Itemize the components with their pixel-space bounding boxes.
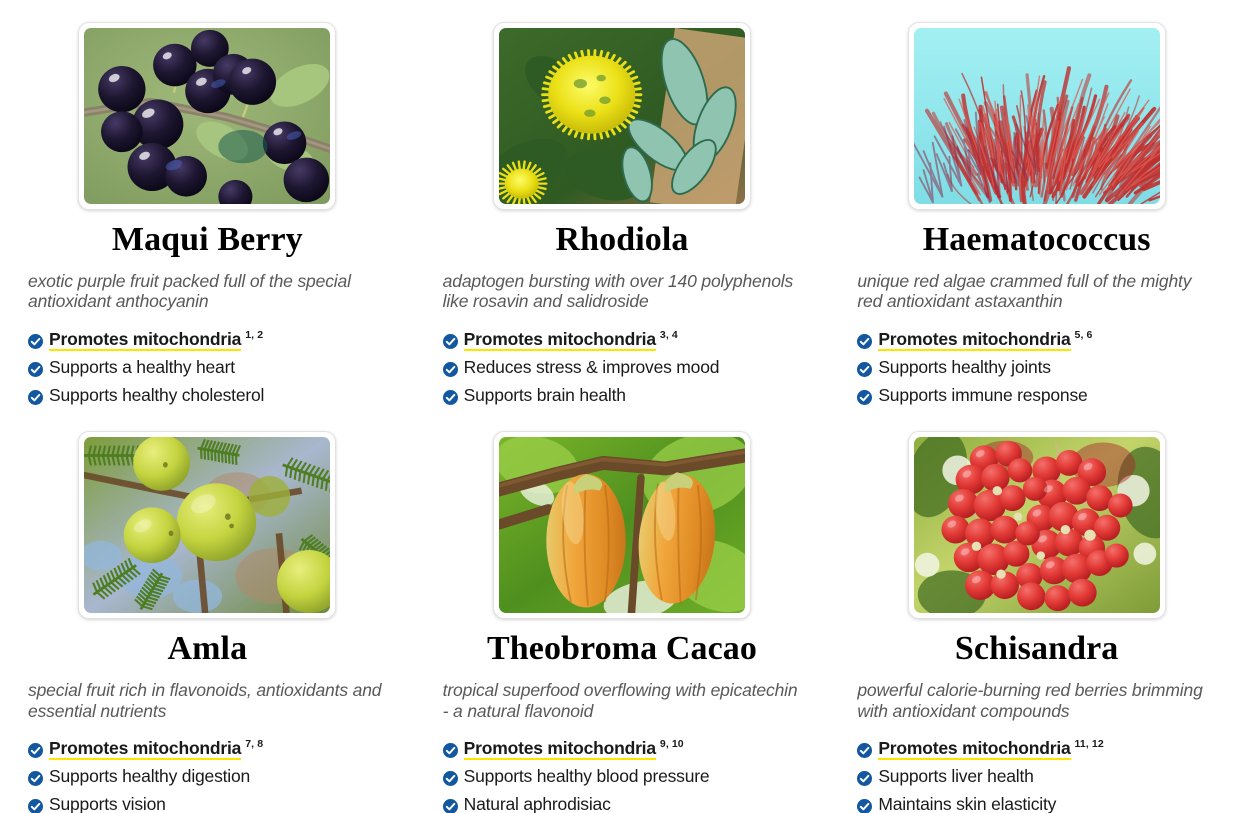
benefit-text-wrap: Promotes mitochondria3, 4 — [464, 328, 678, 351]
benefit-label: Supports brain health — [464, 385, 626, 405]
check-circle-icon — [857, 388, 872, 403]
haematococcus-photo — [914, 28, 1160, 204]
benefit-text-wrap: Supports liver health — [878, 765, 1033, 788]
rhodiola-description: adaptogen bursting with over 140 polyphe… — [443, 271, 802, 312]
citation-reference[interactable]: 1, 2 — [245, 329, 263, 341]
benefit-item: Supports a healthy heart — [28, 356, 387, 379]
benefit-item: Supports healthy cholesterol — [28, 384, 387, 407]
check-circle-icon — [857, 769, 872, 784]
benefit-label[interactable]: Promotes mitochondria — [464, 329, 656, 351]
benefit-text-wrap: Promotes mitochondria7, 8 — [49, 737, 263, 760]
check-circle-icon — [28, 769, 43, 784]
benefit-label[interactable]: Promotes mitochondria — [464, 738, 656, 760]
benefit-text-wrap: Supports a healthy heart — [49, 356, 235, 379]
benefit-item[interactable]: Promotes mitochondria9, 10 — [443, 737, 802, 760]
rhodiola-photo-frame — [493, 22, 751, 210]
citation-reference[interactable]: 9, 10 — [660, 738, 684, 750]
schisandra-title: Schisandra — [955, 631, 1119, 668]
haematococcus-title: Haematococcus — [923, 222, 1151, 259]
benefit-label: Supports vision — [49, 794, 166, 813]
benefit-item[interactable]: Promotes mitochondria7, 8 — [28, 737, 387, 760]
citation-reference[interactable]: 5, 6 — [1075, 329, 1093, 341]
benefit-label: Supports immune response — [878, 385, 1087, 405]
check-circle-icon — [857, 332, 872, 347]
maqui-berry-description: exotic purple fruit packed full of the s… — [28, 271, 387, 312]
benefit-label[interactable]: Promotes mitochondria — [878, 738, 1070, 760]
theobroma-cacao-description: tropical superfood overflowing with epic… — [443, 680, 802, 721]
benefit-item: Supports healthy digestion — [28, 765, 387, 788]
schisandra-benefit-list: Promotes mitochondria11, 12 Supports liv… — [857, 737, 1216, 813]
haematococcus-photo-frame — [908, 22, 1166, 210]
haematococcus-benefit-list: Promotes mitochondria5, 6 Supports healt… — [857, 328, 1216, 412]
check-circle-icon — [857, 360, 872, 375]
ingredient-card-haematococcus: Haematococcus unique red algae crammed f… — [829, 22, 1244, 412]
ingredient-card-amla: Amla special fruit rich in flavonoids, a… — [0, 431, 415, 813]
citation-reference[interactable]: 3, 4 — [660, 329, 678, 341]
benefit-text-wrap: Promotes mitochondria11, 12 — [878, 737, 1103, 760]
benefit-item: Supports healthy blood pressure — [443, 765, 802, 788]
benefit-text-wrap: Maintains skin elasticity — [878, 793, 1056, 813]
benefit-text-wrap: Natural aphrodisiac — [464, 793, 611, 813]
citation-reference[interactable]: 7, 8 — [245, 738, 263, 750]
benefit-item[interactable]: Promotes mitochondria5, 6 — [857, 328, 1216, 351]
check-circle-icon — [443, 332, 458, 347]
benefit-item[interactable]: Promotes mitochondria11, 12 — [857, 737, 1216, 760]
theobroma-cacao-benefit-list: Promotes mitochondria9, 10 Supports heal… — [443, 737, 802, 813]
benefit-item[interactable]: Promotes mitochondria3, 4 — [443, 328, 802, 351]
benefit-label: Supports healthy blood pressure — [464, 766, 710, 786]
benefit-label: Supports healthy digestion — [49, 766, 250, 786]
check-circle-icon — [857, 741, 872, 756]
rhodiola-photo — [499, 28, 745, 204]
benefit-item: Supports liver health — [857, 765, 1216, 788]
benefit-label: Natural aphrodisiac — [464, 794, 611, 813]
amla-photo — [84, 437, 330, 613]
benefit-item: Natural aphrodisiac — [443, 793, 802, 813]
benefit-text-wrap: Reduces stress & improves mood — [464, 356, 720, 379]
rhodiola-benefit-list: Promotes mitochondria3, 4 Reduces stress… — [443, 328, 802, 412]
check-circle-icon — [443, 769, 458, 784]
benefit-text-wrap: Supports healthy digestion — [49, 765, 250, 788]
rhodiola-title: Rhodiola — [555, 222, 688, 259]
benefit-text-wrap: Supports healthy blood pressure — [464, 765, 710, 788]
benefit-label: Supports healthy cholesterol — [49, 385, 264, 405]
schisandra-photo-frame — [908, 431, 1166, 619]
check-circle-icon — [28, 388, 43, 403]
benefit-label: Supports a healthy heart — [49, 357, 235, 377]
citation-reference[interactable]: 11, 12 — [1075, 738, 1104, 750]
benefit-label: Reduces stress & improves mood — [464, 357, 720, 377]
haematococcus-description: unique red algae crammed full of the mig… — [857, 271, 1216, 312]
check-circle-icon — [443, 388, 458, 403]
maqui-berry-benefit-list: Promotes mitochondria1, 2 Supports a hea… — [28, 328, 387, 412]
check-circle-icon — [443, 360, 458, 375]
amla-benefit-list: Promotes mitochondria7, 8 Supports healt… — [28, 737, 387, 813]
benefit-text-wrap: Supports vision — [49, 793, 166, 813]
ingredient-card-rhodiola: Rhodiola adaptogen bursting with over 14… — [415, 22, 830, 412]
benefit-item: Maintains skin elasticity — [857, 793, 1216, 813]
benefit-item: Supports healthy joints — [857, 356, 1216, 379]
benefit-label: Maintains skin elasticity — [878, 794, 1056, 813]
benefit-item: Supports brain health — [443, 384, 802, 407]
theobroma-cacao-photo — [499, 437, 745, 613]
benefit-label[interactable]: Promotes mitochondria — [878, 329, 1070, 351]
amla-description: special fruit rich in flavonoids, antiox… — [28, 680, 387, 721]
ingredient-card-theobroma-cacao: Theobroma Cacao tropical superfood overf… — [415, 431, 830, 813]
ingredient-card-maqui-berry: Maqui Berry exotic purple fruit packed f… — [0, 22, 415, 412]
benefit-item: Supports vision — [28, 793, 387, 813]
maqui-berry-title: Maqui Berry — [112, 222, 303, 259]
check-circle-icon — [28, 360, 43, 375]
benefit-item[interactable]: Promotes mitochondria1, 2 — [28, 328, 387, 351]
ingredient-grid: Maqui Berry exotic purple fruit packed f… — [0, 0, 1244, 813]
amla-title: Amla — [167, 631, 247, 668]
benefit-text-wrap: Promotes mitochondria5, 6 — [878, 328, 1092, 351]
check-circle-icon — [28, 797, 43, 812]
benefit-text-wrap: Promotes mitochondria1, 2 — [49, 328, 263, 351]
benefit-item: Supports immune response — [857, 384, 1216, 407]
check-circle-icon — [857, 797, 872, 812]
benefit-label: Supports healthy joints — [878, 357, 1050, 377]
benefit-label[interactable]: Promotes mitochondria — [49, 329, 241, 351]
ingredient-card-schisandra: Schisandra powerful calorie-burning red … — [829, 431, 1244, 813]
check-circle-icon — [443, 741, 458, 756]
benefit-item: Reduces stress & improves mood — [443, 356, 802, 379]
theobroma-cacao-photo-frame — [493, 431, 751, 619]
benefit-text-wrap: Supports healthy cholesterol — [49, 384, 264, 407]
schisandra-photo — [914, 437, 1160, 613]
maqui-berry-photo — [84, 28, 330, 204]
schisandra-description: powerful calorie-burning red berries bri… — [857, 680, 1216, 721]
theobroma-cacao-title: Theobroma Cacao — [487, 631, 757, 668]
check-circle-icon — [28, 332, 43, 347]
benefit-label[interactable]: Promotes mitochondria — [49, 738, 241, 760]
benefit-text-wrap: Supports brain health — [464, 384, 626, 407]
check-circle-icon — [443, 797, 458, 812]
maqui-berry-photo-frame — [78, 22, 336, 210]
benefit-text-wrap: Supports immune response — [878, 384, 1087, 407]
check-circle-icon — [28, 741, 43, 756]
benefit-text-wrap: Promotes mitochondria9, 10 — [464, 737, 684, 760]
benefit-text-wrap: Supports healthy joints — [878, 356, 1050, 379]
amla-photo-frame — [78, 431, 336, 619]
benefit-label: Supports liver health — [878, 766, 1033, 786]
